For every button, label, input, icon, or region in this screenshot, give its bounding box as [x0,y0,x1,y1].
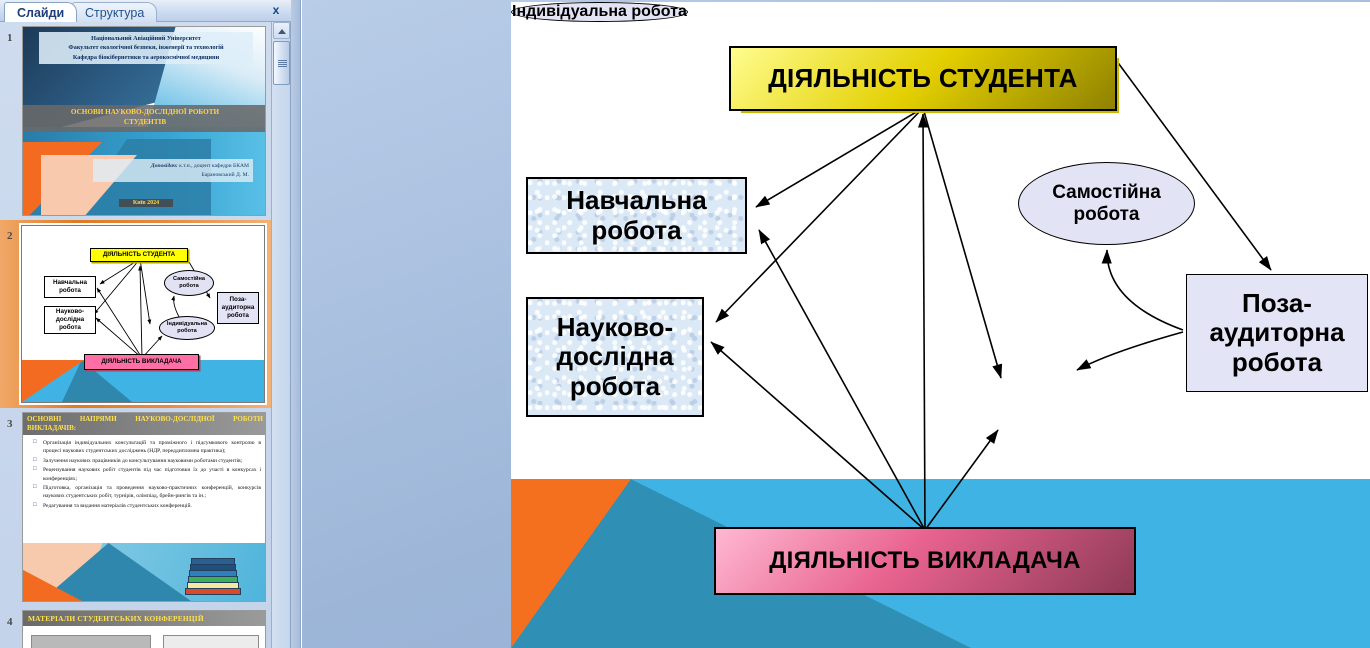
slide-thumbnail-1[interactable]: 1 Національний Авіаційний Університет Фа… [0,22,272,220]
panel-splitter[interactable] [291,0,301,648]
slide-thumbnail-4[interactable]: 4 МАТЕРІАЛИ СТУДЕНТСЬКИХ КОНФЕРЕНЦІЙ [0,606,272,648]
slide-thumbnail-2-frame: ДІЯЛЬНІСТЬ СТУДЕНТА Навчальна робота Нау… [21,225,265,403]
slide1-title-line2: СТУДЕНТІВ [23,118,266,128]
node-teacher-activity[interactable]: ДІЯЛЬНІСТЬ ВИКЛАДАЧА [719,532,1131,590]
node-research-work[interactable]: Науково-дослідна робота [526,297,704,417]
slide1-presenter-block: Доповідач: к.т.н., доцент кафедри БКАМ Б… [93,159,253,182]
tab-slides[interactable]: Слайди [4,2,77,22]
slides-panel-scrollbar[interactable] [271,22,290,648]
slide-thumbnail-2[interactable]: 2 [0,220,272,408]
list-item: Залучення наукових працівників до консул… [33,457,261,465]
slide2-node-research: Науково-дослідна робота [44,306,96,334]
slide-workspace: ДІЯЛЬНІСТЬ СТУДЕНТА Навчальна робота Нау… [302,0,1370,648]
slide1-header-line1: Національний Авіаційний Університет [41,34,251,43]
slide-thumbnail-3-frame: ОСНОВНІ НАПРЯМИ НАУКОВО-ДОСЛІДНОЇ РОБОТИ… [22,412,266,602]
slide-number-1: 1 [7,32,13,44]
node-study-work[interactable]: Навчальна робота [526,177,747,254]
slide3-bullet-list: Організація індивідуальних консультацій … [33,439,261,511]
node-individual-work[interactable]: Індивідуальна робота [511,2,688,22]
slide1-presenter-line1: Доповідач: к.т.н., доцент кафедри БКАМ [97,162,249,171]
scrollbar-thumb[interactable] [273,41,290,85]
slide2-node-self: Самостійна робота [164,270,214,296]
books-icon [185,553,241,595]
slide1-header-line2: Факультет екологічної безпеки, інженерії… [41,43,251,52]
slide1-university-header: Національний Авіаційний Університет Факу… [39,32,253,64]
slide1-city-year: Київ 2024 [119,199,173,207]
slide1-title-band: ОСНОВИ НАУКОВО-ДОСЛІДНОЇ РОБОТИ СТУДЕНТІ… [23,105,266,132]
current-slide-canvas[interactable]: ДІЯЛЬНІСТЬ СТУДЕНТА Навчальна робота Нау… [511,2,1370,648]
close-icon[interactable]: x [269,3,283,18]
slide4-placeholder-image-left [31,635,151,648]
tab-outline[interactable]: Структура [72,2,157,22]
node-extracurricular-work[interactable]: Поза-аудиторна робота [1186,274,1368,392]
panel-tab-strip: Слайди Структура x [0,0,291,22]
slide-thumbnail-1-frame: Національний Авіаційний Університет Факу… [22,26,266,216]
slide-number-2: 2 [7,230,13,242]
slide4-placeholder-image-right [163,635,259,648]
slide-thumbnail-3[interactable]: 3 ОСНОВНІ НАПРЯМИ НАУКОВО-ДОСЛІДНОЇ РОБО… [0,408,272,606]
slide1-presenter-label: Доповідач: [151,163,178,169]
slide-number-4: 4 [7,616,13,628]
slide2-node-extra: Поза-аудиторна робота [217,292,259,324]
node-student-activity[interactable]: ДІЯЛЬНІСТЬ СТУДЕНТА [733,50,1113,107]
slide-thumbnail-list[interactable]: 1 Національний Авіаційний Університет Фа… [0,22,272,648]
list-item: Підготовка, організація та проведення на… [33,484,261,501]
list-item: Рецензування наукових робіт студентів пі… [33,466,261,483]
slide2-node-study: Навчальна робота [44,276,96,298]
slide1-presenter-role: к.т.н., доцент кафедри БКАМ [179,163,249,169]
slide-thumbnail-4-frame: МАТЕРІАЛИ СТУДЕНТСЬКИХ КОНФЕРЕНЦІЙ [22,610,266,648]
slide-number-3: 3 [7,418,13,430]
slides-panel: Слайди Структура x 1 Національний Авіаці… [0,0,291,648]
node-independent-work[interactable]: Самостійна робота [1018,162,1195,245]
slide2-node-teacher: ДІЯЛЬНІСТЬ ВИКЛАДАЧА [84,354,199,370]
slide4-title: МАТЕРІАЛИ СТУДЕНТСЬКИХ КОНФЕРЕНЦІЙ [23,611,266,626]
scroll-up-arrow-icon[interactable] [273,22,290,39]
slide2-node-title: ДІЯЛЬНІСТЬ СТУДЕНТА [90,248,188,262]
slide2-node-individual: Індивідуальна робота [159,316,215,340]
slide1-title-line1: ОСНОВИ НАУКОВО-ДОСЛІДНОЇ РОБОТИ [23,108,266,118]
slide3-title: ОСНОВНІ НАПРЯМИ НАУКОВО-ДОСЛІДНОЇ РОБОТИ… [23,413,266,435]
list-item: Організація індивідуальних консультацій … [33,439,261,456]
scrollbar-grip-icon [278,60,287,67]
list-item: Редагування та видання матеріалів студен… [33,502,261,510]
slide1-header-line3: Кафедра біокібернетики та аерокосмічної … [41,53,251,62]
slide1-presenter-name: Барановський Д. М. [97,171,249,180]
